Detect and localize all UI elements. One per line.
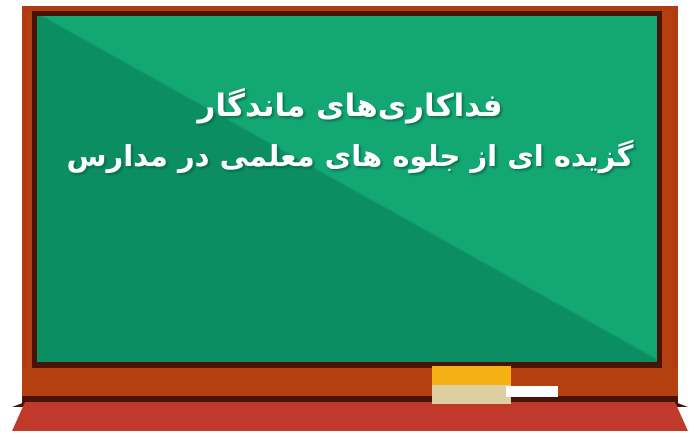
eraser-top-band xyxy=(432,366,511,385)
chalk-icon xyxy=(506,386,558,397)
board-base xyxy=(12,402,688,431)
chalkboard-surface xyxy=(37,16,657,362)
eraser-icon xyxy=(432,366,511,404)
eraser-felt-body xyxy=(432,385,511,404)
chalkboard-scene: فداکاری‌های ماندگار گزیده ای از جلوه های… xyxy=(0,0,700,437)
